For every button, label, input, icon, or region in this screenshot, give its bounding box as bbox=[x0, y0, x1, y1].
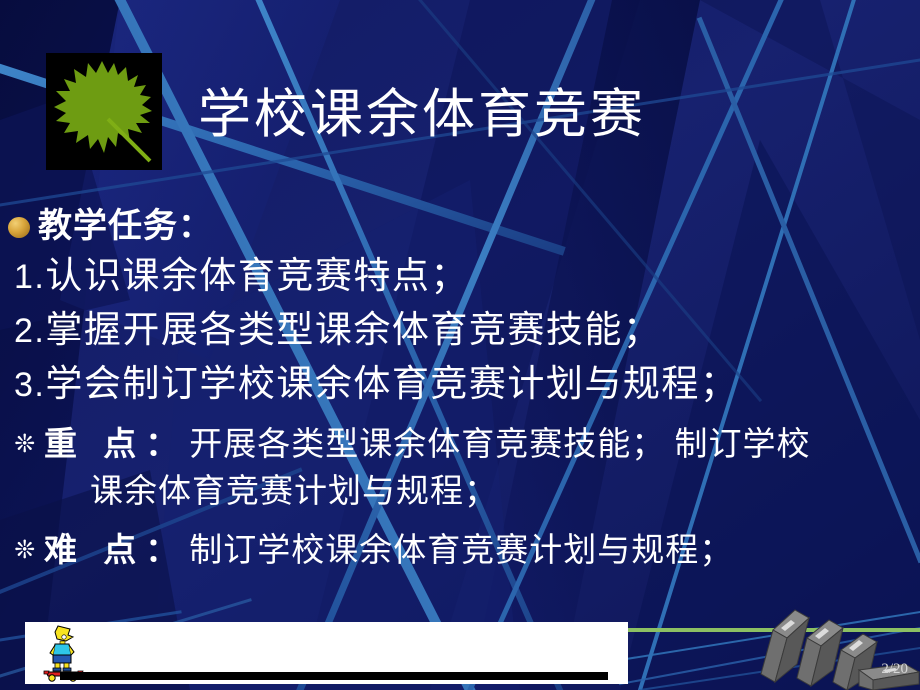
presentation-slide: 学校课余体育竞赛 教学任务： 1.认识课余体育竞赛特点； 2.掌握开展各类型课余… bbox=[0, 0, 920, 690]
maple-leaf-icon bbox=[46, 53, 162, 170]
task-item: 2.掌握开展各类型课余体育竞赛技能； bbox=[0, 304, 920, 358]
key-point-item: ❊ 重 点：开展各类型课余体育竞赛技能； 制订学校 课余体育竞赛计划与规程； bbox=[0, 422, 920, 516]
difficult-point-label: 难 点： bbox=[44, 533, 189, 569]
teaching-tasks-heading: 教学任务： bbox=[0, 204, 920, 250]
snowflake-icon: ❊ bbox=[12, 430, 38, 458]
page-title: 学校课余体育竞赛 bbox=[198, 83, 698, 147]
task-number: 3. bbox=[14, 366, 45, 404]
difficult-point-text: 制订学校课余体育竞赛计划与规程； bbox=[189, 533, 733, 569]
gold-sphere-bullet-icon bbox=[8, 217, 30, 238]
task-text: 掌握开展各类型课余体育竞赛技能； bbox=[45, 310, 661, 351]
key-point-label: 重 点： bbox=[44, 427, 189, 463]
black-ground-bar bbox=[60, 672, 608, 680]
key-point-text: 开展各类型课余体育竞赛技能； 制订学校 bbox=[189, 427, 810, 463]
teaching-tasks-heading-label: 教学任务： bbox=[38, 208, 213, 245]
task-number: 1. bbox=[14, 258, 45, 296]
task-item: 1.认识课余体育竞赛特点； bbox=[0, 250, 920, 304]
key-point-continuation: 课余体育竞赛计划与规程； bbox=[44, 469, 920, 516]
green-maple-leaf-logo bbox=[46, 53, 162, 170]
task-item: 3.学会制订学校课余体育竞赛计划与规程； bbox=[0, 358, 920, 412]
difficult-point-item: ❊ 难 点：制订学校课余体育竞赛计划与规程； bbox=[0, 528, 920, 575]
task-number: 2. bbox=[14, 312, 45, 350]
page-number: 2/20 bbox=[881, 660, 908, 678]
snowflake-icon: ❊ bbox=[12, 536, 38, 564]
slide-body: 教学任务： 1.认识课余体育竞赛特点； 2.掌握开展各类型课余体育竞赛技能； 3… bbox=[0, 204, 920, 575]
footer-white-panel bbox=[25, 622, 628, 684]
task-text: 学会制订学校课余体育竞赛计划与规程； bbox=[45, 364, 738, 405]
task-text: 认识课余体育竞赛特点； bbox=[45, 256, 469, 297]
